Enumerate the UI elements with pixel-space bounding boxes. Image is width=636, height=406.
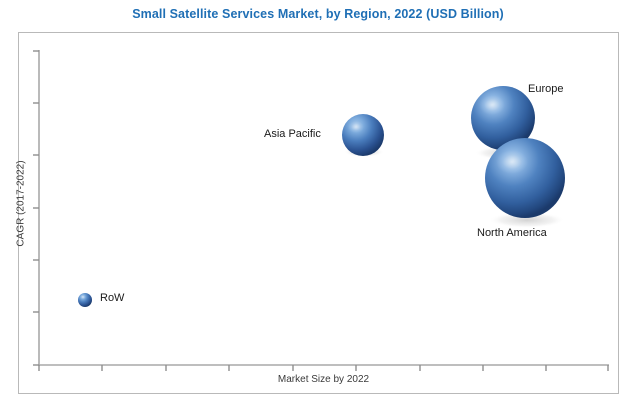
x-axis-title: Market Size by 2022: [39, 374, 608, 385]
y-axis-title: CAGR (2017-2022): [16, 124, 27, 284]
bubble-label-row: RoW: [100, 292, 124, 304]
bubble-label-asia-pacific: Asia Pacific: [264, 128, 321, 140]
bubble-chart-figure: Small Satellite Services Market, by Regi…: [0, 0, 636, 406]
bubble-label-europe: Europe: [528, 83, 563, 95]
bubble-label-north-america: North America: [477, 227, 547, 239]
chart-title: Small Satellite Services Market, by Regi…: [0, 7, 636, 21]
